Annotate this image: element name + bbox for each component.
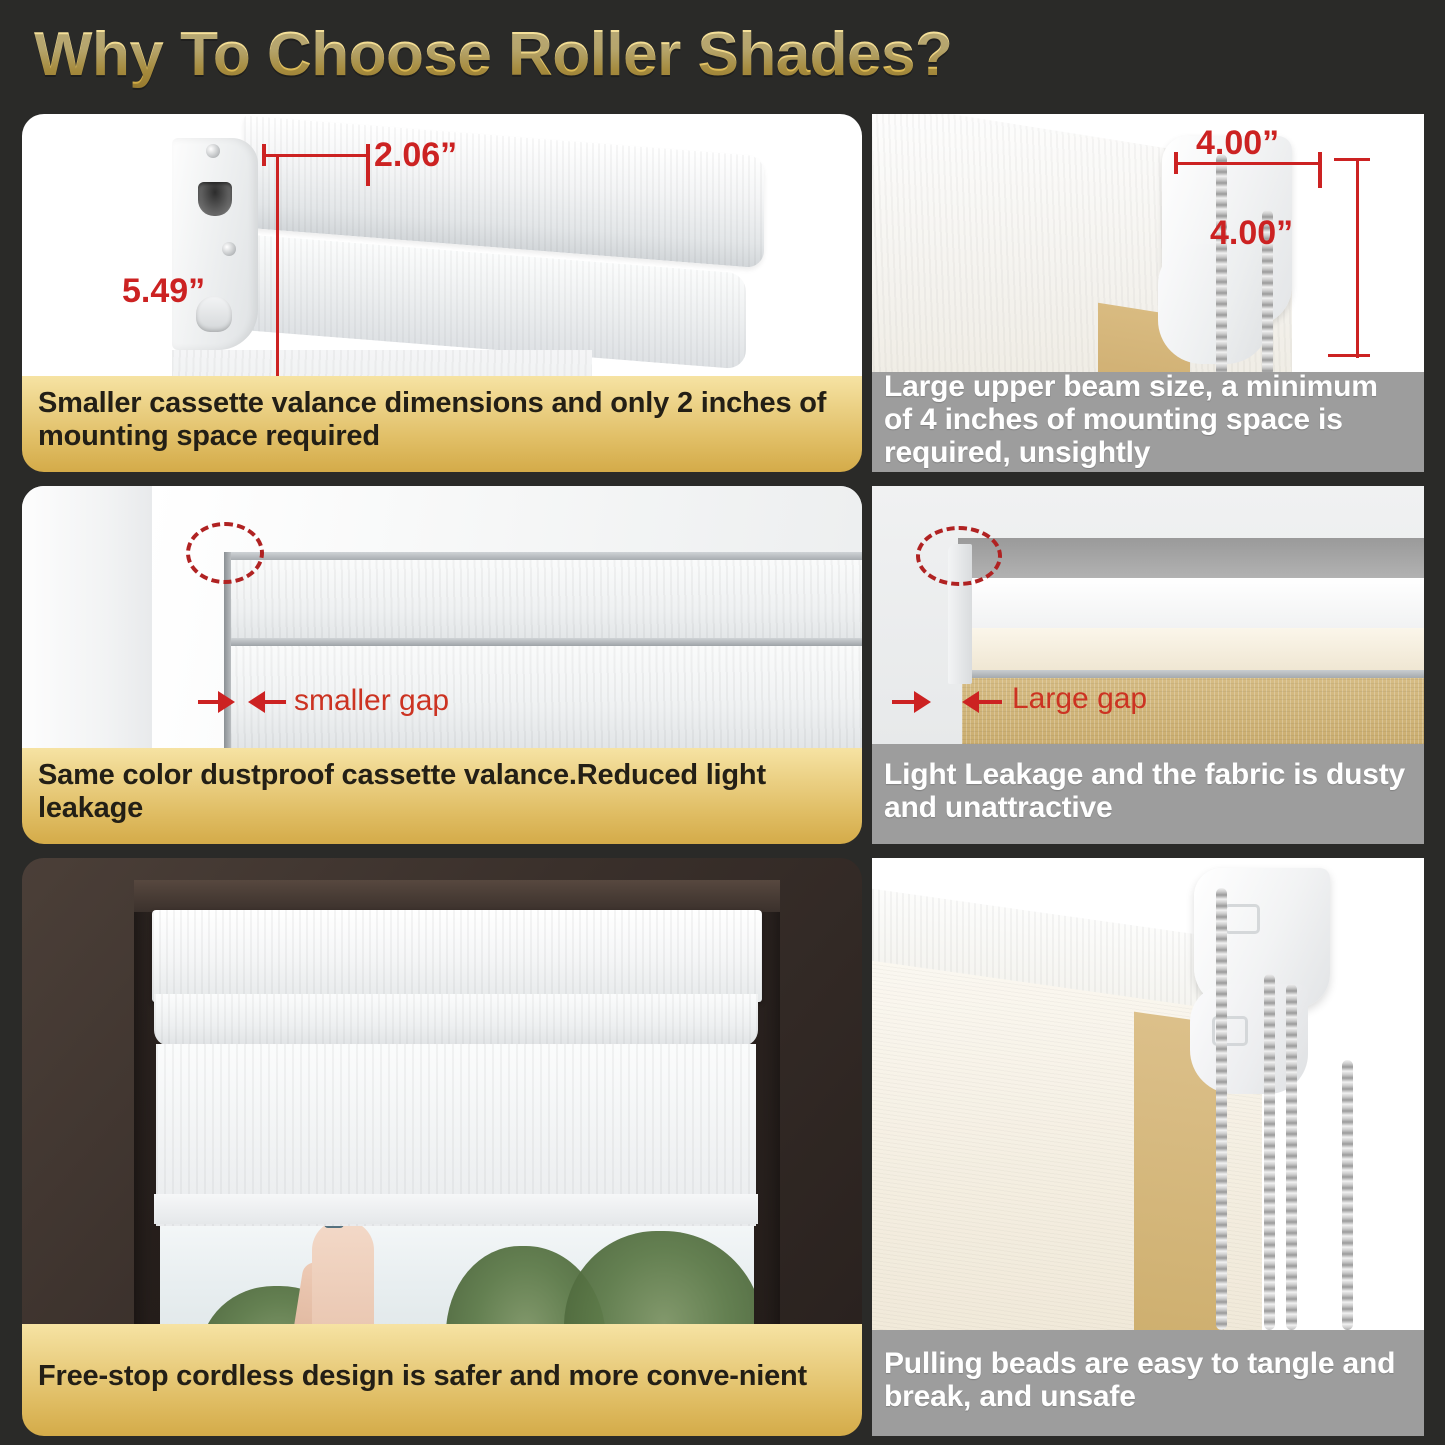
- bead-chain-left: [1216, 154, 1227, 376]
- beam-height-label: 4.00”: [1210, 214, 1293, 253]
- caption-text: Large upper beam size, a minimum of 4 in…: [884, 370, 1412, 469]
- panel-top-right-caption: Large upper beam size, a minimum of 4 in…: [872, 372, 1424, 472]
- upper-beam-housing-lower: [1158, 244, 1270, 364]
- gap-arrow-left-tail: [198, 700, 220, 704]
- poster-root: Why To Choose Roller Shades?: [0, 0, 1445, 1445]
- panel-top-right-image: 4.00” 4.00”: [872, 114, 1424, 376]
- shade-mid-rail: [226, 638, 862, 646]
- valance-screw-mid: [222, 242, 236, 256]
- panel-middle-right-image: Large gap: [872, 486, 1424, 744]
- cream-band: [962, 628, 1424, 672]
- large-gap-label: Large gap: [1012, 682, 1147, 716]
- bead-chain-a[interactable]: [1216, 888, 1227, 1330]
- panel-bottom-left-caption: Free-stop cordless design is safer and m…: [22, 1324, 862, 1436]
- panel-bottom-right-caption: Pulling beads are easy to tangle and bre…: [872, 1330, 1424, 1436]
- panel-top-left-caption: Smaller cassette valance dimensions and …: [22, 376, 862, 472]
- window-frame-top: [134, 880, 780, 912]
- valance-fabric: [172, 350, 592, 378]
- gap-arrow-right-head: [248, 691, 265, 713]
- bead-chain-c[interactable]: [1286, 984, 1297, 1330]
- window-glass: [160, 1220, 754, 1324]
- panel-middle-right-caption: Light Leakage and the fabric is dusty an…: [872, 744, 1424, 844]
- hand: [312, 1220, 374, 1324]
- gap-arrow-left-head: [914, 691, 931, 713]
- gap-arrow-right-tail: [978, 700, 1002, 704]
- panel-top-left: 2.06” 5.49” Smaller cassette valance dim…: [22, 114, 862, 472]
- bead-chain-b[interactable]: [1264, 974, 1275, 1330]
- smaller-gap-label: smaller gap: [294, 684, 449, 718]
- poster-header: Why To Choose Roller Shades?: [0, 0, 1445, 108]
- caption-text: Pulling beads are easy to tangle and bre…: [884, 1347, 1412, 1413]
- panel-middle-left-caption: Same color dustproof cassette valance.Re…: [22, 748, 862, 844]
- valance-slot: [198, 182, 232, 216]
- caption-text: Smaller cassette valance dimensions and …: [38, 387, 846, 453]
- gap-arrow-right-tail: [264, 700, 286, 704]
- cassette-valance-lip: [154, 994, 758, 1046]
- panel-bottom-right-image: [872, 858, 1424, 1330]
- caption-text: Light Leakage and the fabric is dusty an…: [884, 758, 1412, 824]
- beam-width-tick-left: [1174, 152, 1178, 174]
- panel-middle-left-image: smaller gap: [22, 486, 862, 748]
- height-dimension-label: 5.49”: [122, 272, 205, 311]
- caption-text: Free-stop cordless design is safer and m…: [38, 1360, 846, 1393]
- width-tick-right: [366, 144, 370, 186]
- highlight-circle-icon: [916, 526, 1002, 586]
- beam-width-tick-right: [1318, 152, 1322, 188]
- gap-arrow-left-tail: [892, 700, 916, 704]
- page-title: Why To Choose Roller Shades?: [34, 19, 952, 90]
- valance-screw-top: [206, 144, 220, 158]
- gap-arrow-right-head: [962, 691, 979, 713]
- beam-height-line: [1356, 158, 1359, 358]
- shadow-band: [958, 538, 1424, 582]
- panel-bottom-left: Free-stop cordless design is safer and m…: [22, 858, 862, 1436]
- beam-height-tick-bottom: [1328, 354, 1370, 357]
- tree-right: [564, 1231, 754, 1324]
- width-dimension-label: 2.06”: [374, 136, 457, 175]
- shade-bottom-bar: [154, 1194, 758, 1224]
- height-tick-top: [266, 154, 292, 157]
- bracket-emblem-icon: [1224, 904, 1260, 934]
- cassette-valance-illustration: [172, 130, 792, 370]
- caption-text: Same color dustproof cassette valance.Re…: [38, 759, 846, 825]
- panel-top-right: 4.00” 4.00” Large upper beam size, a min…: [872, 114, 1424, 472]
- shade-band-upper: [230, 560, 862, 642]
- highlight-circle-icon: [186, 522, 264, 584]
- window-frame-side: [22, 486, 162, 748]
- cassette-valance-head: [152, 910, 762, 1002]
- panel-middle-left: smaller gap Same color dustproof cassett…: [22, 486, 862, 844]
- white-valance-band: [958, 578, 1424, 632]
- gap-arrow-left-head: [218, 691, 235, 713]
- beam-width-label: 4.00”: [1196, 124, 1279, 163]
- panel-bottom-right: Pulling beads are easy to tangle and bre…: [872, 858, 1424, 1436]
- comparison-grid: 2.06” 5.49” Smaller cassette valance dim…: [0, 108, 1445, 1445]
- beam-height-tick-top: [1334, 158, 1370, 161]
- panel-middle-right: Large gap Light Leakage and the fabric i…: [872, 486, 1424, 844]
- panel-top-left-image: 2.06” 5.49”: [22, 114, 862, 378]
- height-dimension-line: [276, 154, 279, 378]
- bead-chain-d[interactable]: [1342, 1060, 1353, 1330]
- panel-bottom-left-image: [22, 858, 862, 1324]
